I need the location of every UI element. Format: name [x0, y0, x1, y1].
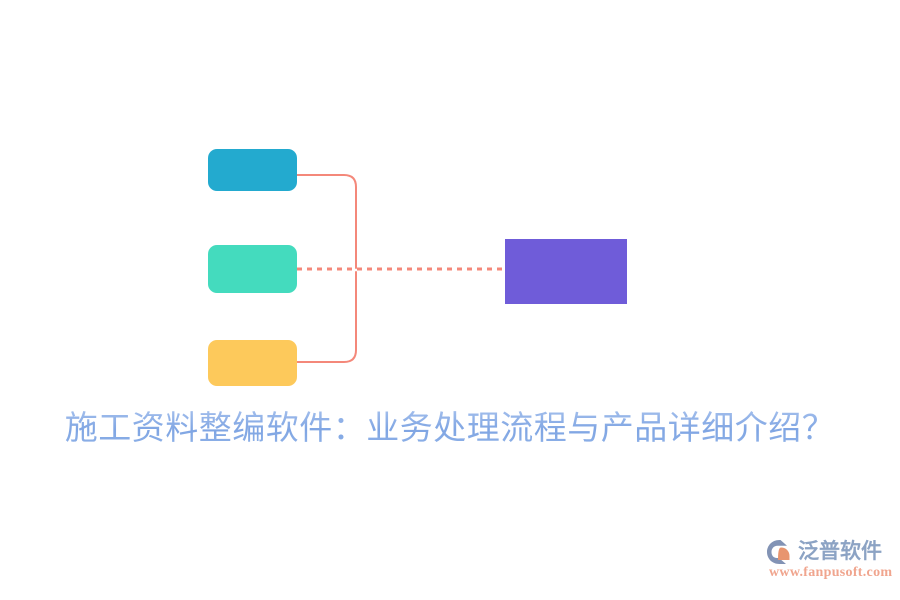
diagram-connectors — [0, 0, 900, 400]
logo-row: 泛普软件 — [766, 537, 882, 567]
flow-node-intake[interactable] — [208, 149, 297, 191]
page-title: 施工资料整编软件：业务处理流程与产品详细介绍？ — [0, 406, 900, 452]
brand-watermark: 泛普软件 www.fanpusoft.com — [766, 537, 892, 587]
connector-intake-to-trunk — [297, 175, 356, 268]
flow-node-compile[interactable] — [208, 245, 297, 293]
brand-wordmark: 泛普软件 — [798, 538, 882, 566]
connector-archive-to-trunk — [297, 272, 356, 362]
business-process-diagram — [0, 0, 900, 400]
fanpu-logo-icon — [766, 538, 796, 566]
flow-node-archive[interactable] — [208, 340, 297, 386]
flow-node-output[interactable] — [505, 239, 627, 304]
page-canvas: 施工资料整编软件：业务处理流程与产品详细介绍？ 泛普软件 www.fanpuso… — [0, 0, 900, 600]
brand-url: www.fanpusoft.com — [769, 565, 892, 581]
